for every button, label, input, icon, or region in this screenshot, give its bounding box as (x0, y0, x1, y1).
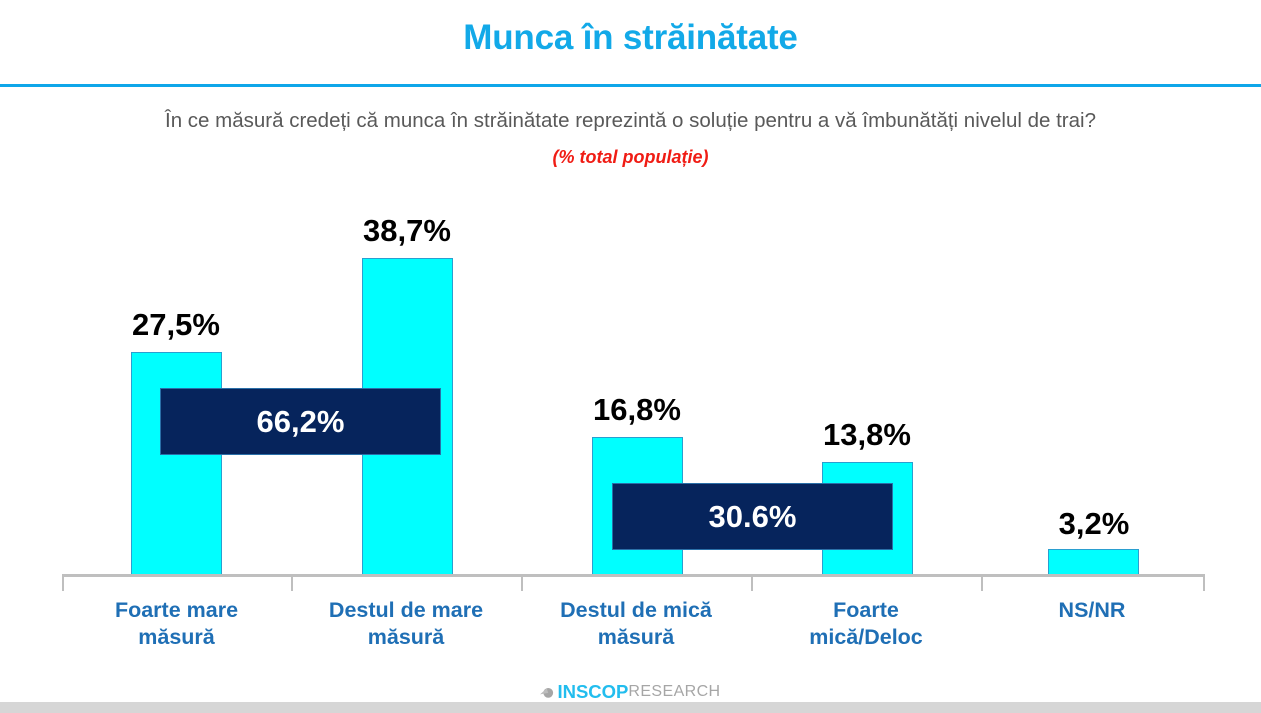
x-axis-label-foarte-mica-deloc: Foarte mică/Deloc (751, 597, 981, 651)
bar-value-label: 13,8% (772, 417, 962, 453)
inscop-logo-secondary: RESEARCH (628, 682, 720, 702)
bar-value-label: 16,8% (542, 392, 732, 428)
x-axis-label-line1: Destul de mare (291, 597, 521, 624)
summary-box-label: 66,2% (257, 404, 345, 440)
x-axis-tick (1203, 577, 1205, 591)
x-axis-label-line2: măsură (521, 624, 751, 651)
footer-band (0, 702, 1261, 713)
inscop-swoosh-icon (540, 685, 555, 700)
x-axis-label-line2: măsură (291, 624, 521, 651)
x-axis-line (62, 574, 1205, 577)
bar-value-label: 27,5% (81, 307, 271, 343)
inscop-logo-primary: INSCOP (557, 682, 628, 702)
x-axis-label-destul-de-mare-masura: Destul de mare măsură (291, 597, 521, 651)
bar-foarte-mare-masura[interactable] (131, 352, 222, 575)
x-axis-label-foarte-mare-masura: Foarte mare măsură (62, 597, 291, 651)
x-axis-tick (521, 577, 523, 591)
x-axis-tick (62, 577, 64, 591)
x-axis-label-line1: Destul de mică (521, 597, 751, 624)
x-axis-label-line2: măsură (62, 624, 291, 651)
x-axis-label-line1: Foarte (751, 597, 981, 624)
inscop-logo: INSCOP RESEARCH (0, 681, 1261, 703)
x-axis-label-line2: mică/Deloc (751, 624, 981, 651)
x-axis-label-line1: Foarte mare (62, 597, 291, 624)
x-axis-label-line1: NS/NR (981, 597, 1203, 624)
summary-box-label: 30.6% (709, 499, 797, 535)
bar-ns-nr[interactable] (1048, 549, 1139, 575)
x-axis-label-destul-de-mica-masura: Destul de mică măsură (521, 597, 751, 651)
summary-box-unfavorable[interactable]: 30.6% (612, 483, 893, 550)
x-axis-tick (751, 577, 753, 591)
bar-value-label: 3,2% (999, 506, 1189, 542)
bar-value-label: 38,7% (312, 213, 502, 249)
bar-chart: 27,5% 38,7% 16,8% 13,8% 3,2% 66,2% 30.6%… (0, 0, 1261, 713)
summary-box-favorable[interactable]: 66,2% (160, 388, 441, 455)
x-axis-tick (291, 577, 293, 591)
x-axis-tick (981, 577, 983, 591)
x-axis-label-ns-nr: NS/NR (981, 597, 1203, 624)
